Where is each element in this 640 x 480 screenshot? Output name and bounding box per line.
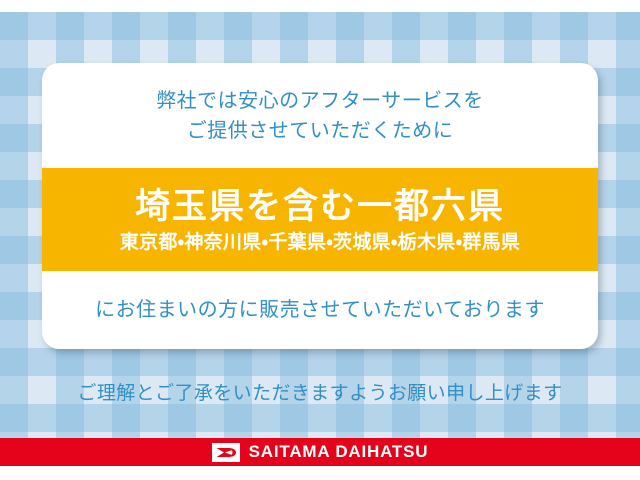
lead-line-2: ご提供させていただくために bbox=[187, 116, 454, 146]
outside-note: ご理解とご了承をいただきますようお願い申し上げます bbox=[0, 378, 640, 405]
daihatsu-d-emblem-icon bbox=[212, 443, 240, 462]
card-lead-block: 弊社では安心のアフターサービスを ご提供させていただくために bbox=[42, 63, 598, 168]
highlight-band: 埼玉県を含む一都六県 東京都・神奈川県・千葉県・茨城県・栃木県・群馬県 bbox=[42, 168, 598, 271]
notice-card: 弊社では安心のアフターサービスを ご提供させていただくために 埼玉県を含む一都六… bbox=[42, 63, 598, 349]
band-headline: 埼玉県を含む一都六県 bbox=[135, 184, 505, 230]
band-prefectures-line: 東京都・神奈川県・千葉県・茨城県・栃木県・群馬県 bbox=[120, 230, 521, 256]
lead-line-1: 弊社では安心のアフターサービスを bbox=[156, 86, 484, 116]
top-white-strip bbox=[0, 0, 640, 12]
card-closing-block: にお住まいの方に販売させていただいております bbox=[42, 271, 598, 349]
notice-banner: 弊社では安心のアフターサービスを ご提供させていただくために 埼玉県を含む一都六… bbox=[0, 0, 640, 480]
brand-footer: SAITAMA DAIHATSU bbox=[0, 438, 640, 466]
closing-line: にお住まいの方に販売させていただいております bbox=[95, 296, 545, 324]
brand-name: SAITAMA DAIHATSU bbox=[249, 442, 429, 462]
bottom-white-strip bbox=[0, 466, 640, 480]
